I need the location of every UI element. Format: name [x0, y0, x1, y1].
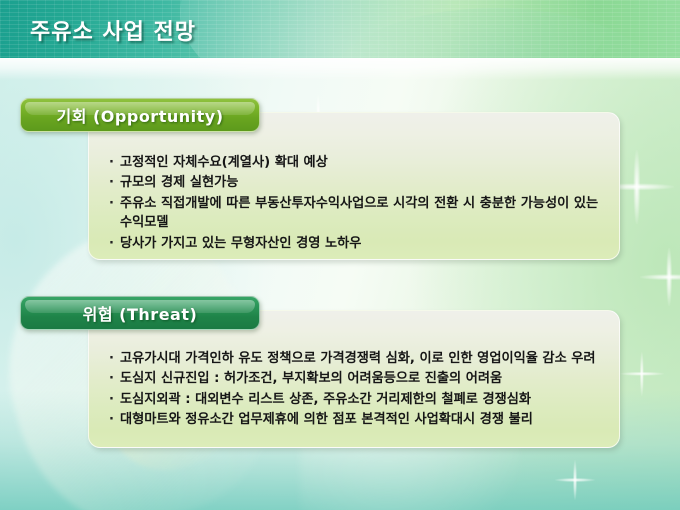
list-item: · 당사가 가지고 있는 무형자산인 경영 노하우	[109, 234, 603, 253]
threat-header-badge: 위협 (Threat)	[20, 296, 260, 330]
bullet-dot-icon: ·	[109, 153, 120, 172]
list-item-text: 당사가 가지고 있는 무형자산인 경영 노하우	[120, 234, 603, 253]
page-title: 주유소 사업 전망	[30, 14, 196, 46]
presentation-slide: 주유소 사업 전망 · 고정적인 자체수요(계열사) 확대 예상 · 규모의 경…	[0, 0, 680, 510]
opportunity-card: · 고정적인 자체수요(계열사) 확대 예상 · 규모의 경제 실현가능 · 주…	[88, 112, 620, 260]
opportunity-bullet-list: · 고정적인 자체수요(계열사) 확대 예상 · 규모의 경제 실현가능 · 주…	[109, 153, 603, 254]
opportunity-header-badge: 기회 (Opportunity)	[20, 98, 260, 132]
bullet-dot-icon: ·	[109, 410, 120, 429]
list-item-text: 대형마트와 정유소간 업무제휴에 의한 점포 본격적인 사업확대시 경쟁 불리	[120, 410, 603, 429]
threat-bullet-list: · 고유가시대 가격인하 유도 정책으로 가격경쟁력 심화, 이로 인한 영업이…	[109, 349, 603, 431]
opportunity-badge-label: 기회 (Opportunity)	[56, 103, 223, 127]
list-item-text: 도심지외곽 : 대외변수 리스트 상존, 주유소간 거리제한의 철폐로 경쟁심화	[120, 390, 603, 409]
bullet-dot-icon: ·	[109, 234, 120, 253]
list-item: · 고정적인 자체수요(계열사) 확대 예상	[109, 153, 603, 172]
band-bottom-fade	[0, 58, 680, 80]
list-item: · 규모의 경제 실현가능	[109, 173, 603, 192]
list-item-text: 규모의 경제 실현가능	[120, 173, 603, 192]
list-item-text: 도심지 신규진입 : 허가조건, 부지확보의 어려움등으로 진출의 어려움	[120, 369, 603, 388]
list-item: · 도심지 신규진입 : 허가조건, 부지확보의 어려움등으로 진출의 어려움	[109, 369, 603, 388]
threat-card: · 고유가시대 가격인하 유도 정책으로 가격경쟁력 심화, 이로 인한 영업이…	[88, 310, 620, 448]
list-item: · 고유가시대 가격인하 유도 정책으로 가격경쟁력 심화, 이로 인한 영업이…	[109, 349, 603, 368]
threat-badge-label: 위협 (Threat)	[83, 301, 198, 325]
list-item-text: 고유가시대 가격인하 유도 정책으로 가격경쟁력 심화, 이로 인한 영업이익율…	[120, 349, 603, 368]
bullet-dot-icon: ·	[109, 349, 120, 368]
list-item: · 대형마트와 정유소간 업무제휴에 의한 점포 본격적인 사업확대시 경쟁 불…	[109, 410, 603, 429]
list-item-text: 주유소 직접개발에 따른 부동산투자수익사업으로 시각의 전환 시 충분한 가능…	[120, 194, 603, 233]
bullet-dot-icon: ·	[109, 390, 120, 409]
list-item: · 도심지외곽 : 대외변수 리스트 상존, 주유소간 거리제한의 철폐로 경쟁…	[109, 390, 603, 409]
bullet-dot-icon: ·	[109, 173, 120, 192]
bullet-dot-icon: ·	[109, 369, 120, 388]
list-item-text: 고정적인 자체수요(계열사) 확대 예상	[120, 153, 603, 172]
list-item: · 주유소 직접개발에 따른 부동산투자수익사업으로 시각의 전환 시 충분한 …	[109, 194, 603, 233]
bullet-dot-icon: ·	[109, 194, 120, 213]
